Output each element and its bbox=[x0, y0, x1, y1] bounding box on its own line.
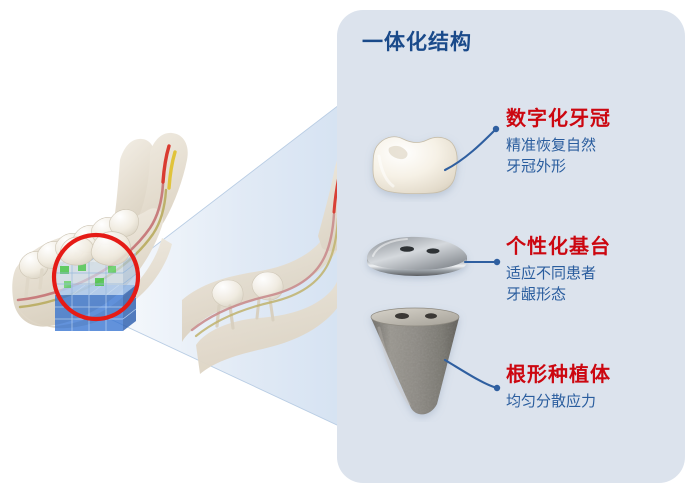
subtext-line: 均匀分散应力 bbox=[506, 391, 611, 412]
infographic-root: 一体化结构 bbox=[0, 0, 693, 493]
subtext-line: 牙龈形态 bbox=[506, 284, 611, 305]
subtext-line: 适应不同患者 bbox=[506, 263, 611, 284]
subtext-line: 精准恢复自然 bbox=[506, 135, 611, 156]
label-root-form-implant: 根形种植体 均匀分散应力 bbox=[506, 364, 611, 412]
subtext-line: 牙冠外形 bbox=[506, 156, 611, 177]
subtext-custom-abutment: 适应不同患者 牙龈形态 bbox=[506, 263, 611, 306]
label-custom-abutment: 个性化基台 适应不同患者 牙龈形态 bbox=[506, 236, 611, 306]
subtext-root-form-implant: 均匀分散应力 bbox=[506, 391, 611, 412]
integrated-structure-panel: 一体化结构 bbox=[337, 10, 685, 483]
heading-custom-abutment: 个性化基台 bbox=[506, 236, 611, 259]
subtext-digital-crown: 精准恢复自然 牙冠外形 bbox=[506, 135, 611, 178]
heading-digital-crown: 数字化牙冠 bbox=[506, 108, 611, 131]
label-digital-crown: 数字化牙冠 精准恢复自然 牙冠外形 bbox=[506, 108, 611, 178]
heading-root-form-implant: 根形种植体 bbox=[506, 364, 611, 387]
